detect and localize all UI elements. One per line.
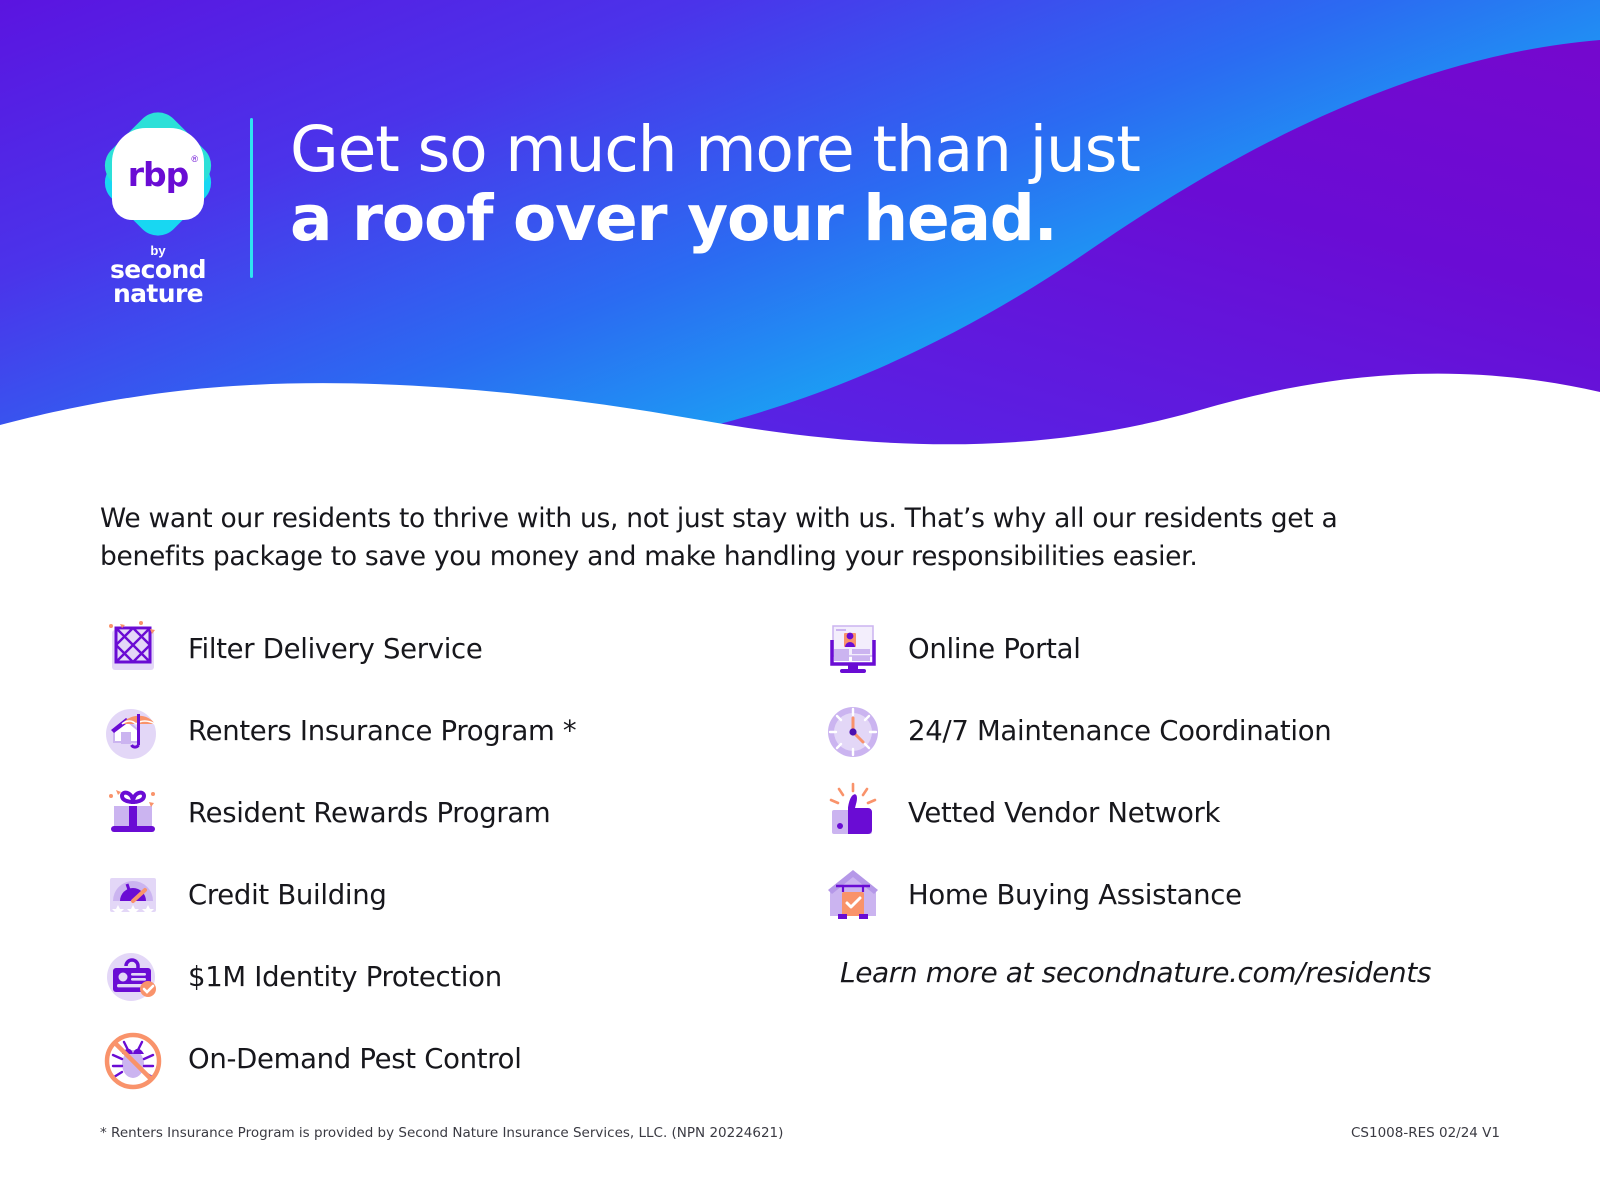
- gift-box-icon: [100, 780, 166, 846]
- benefit-label: $1M Identity Protection: [188, 961, 502, 993]
- rbp-logo-mark: rbp ®: [96, 112, 220, 236]
- document-code: CS1008-RES 02/24 V1: [1351, 1125, 1500, 1141]
- benefit-credit-building: Credit Building: [100, 854, 800, 936]
- learn-more-link[interactable]: Learn more at secondnature.com/residents: [840, 956, 1431, 989]
- benefit-label: Online Portal: [908, 633, 1081, 665]
- benefit-filter-delivery-service: Filter Delivery Service: [100, 608, 800, 690]
- legal-footnote: * Renters Insurance Program is provided …: [100, 1125, 783, 1141]
- header-content: rbp ® by second nature Get so much more …: [0, 0, 1600, 470]
- no-pest-icon: [100, 1026, 166, 1092]
- headline-line-2: a roof over your head.: [290, 184, 1140, 255]
- benefit-label: On-Demand Pest Control: [188, 1043, 522, 1075]
- thumbs-up-icon: [820, 780, 886, 846]
- brand-logo: rbp ® by second nature: [88, 112, 228, 307]
- headline-line-1: Get so much more than just: [290, 116, 1140, 184]
- logo-white-badge: rbp ®: [112, 128, 204, 220]
- id-badge-check-icon: [100, 944, 166, 1010]
- benefit-pest-control: On-Demand Pest Control: [100, 1018, 800, 1100]
- benefits-column-right: Online Portal: [820, 608, 1520, 936]
- page-title: Get so much more than just a roof over y…: [290, 116, 1140, 255]
- credit-gauge-icon: [100, 862, 166, 928]
- flyer-page: rbp ® by second nature Get so much more …: [0, 0, 1600, 1200]
- benefit-online-portal: Online Portal: [820, 608, 1520, 690]
- benefit-label: 24/7 Maintenance Coordination: [908, 715, 1331, 747]
- wordmark-nature: nature: [110, 282, 206, 307]
- benefit-label: Renters Insurance Program *: [188, 715, 576, 747]
- intro-paragraph: We want our residents to thrive with us,…: [100, 500, 1430, 575]
- clock-icon: [820, 698, 886, 764]
- benefit-label: Resident Rewards Program: [188, 797, 550, 829]
- benefit-label: Vetted Vendor Network: [908, 797, 1220, 829]
- second-nature-wordmark: by second nature: [110, 245, 206, 307]
- logo-registered-mark: ®: [191, 154, 198, 164]
- umbrella-house-icon: [100, 698, 166, 764]
- air-filter-icon: [100, 616, 166, 682]
- house-checklist-icon: [820, 862, 886, 928]
- desktop-monitor-icon: [820, 616, 886, 682]
- benefit-identity-protection: $1M Identity Protection: [100, 936, 800, 1018]
- logo-rbp-text: rbp: [112, 128, 204, 220]
- benefit-resident-rewards-program: Resident Rewards Program: [100, 772, 800, 854]
- benefit-home-buying-assistance: Home Buying Assistance: [820, 854, 1520, 936]
- benefits-column-left: Filter Delivery Service: [100, 608, 800, 1100]
- benefit-maintenance-coordination: 24/7 Maintenance Coordination: [820, 690, 1520, 772]
- benefit-vetted-vendor-network: Vetted Vendor Network: [820, 772, 1520, 854]
- benefit-label: Credit Building: [188, 879, 387, 911]
- benefit-label: Home Buying Assistance: [908, 879, 1242, 911]
- benefit-renters-insurance-program: Renters Insurance Program *: [100, 690, 800, 772]
- header-divider: [250, 118, 253, 278]
- benefit-label: Filter Delivery Service: [188, 633, 482, 665]
